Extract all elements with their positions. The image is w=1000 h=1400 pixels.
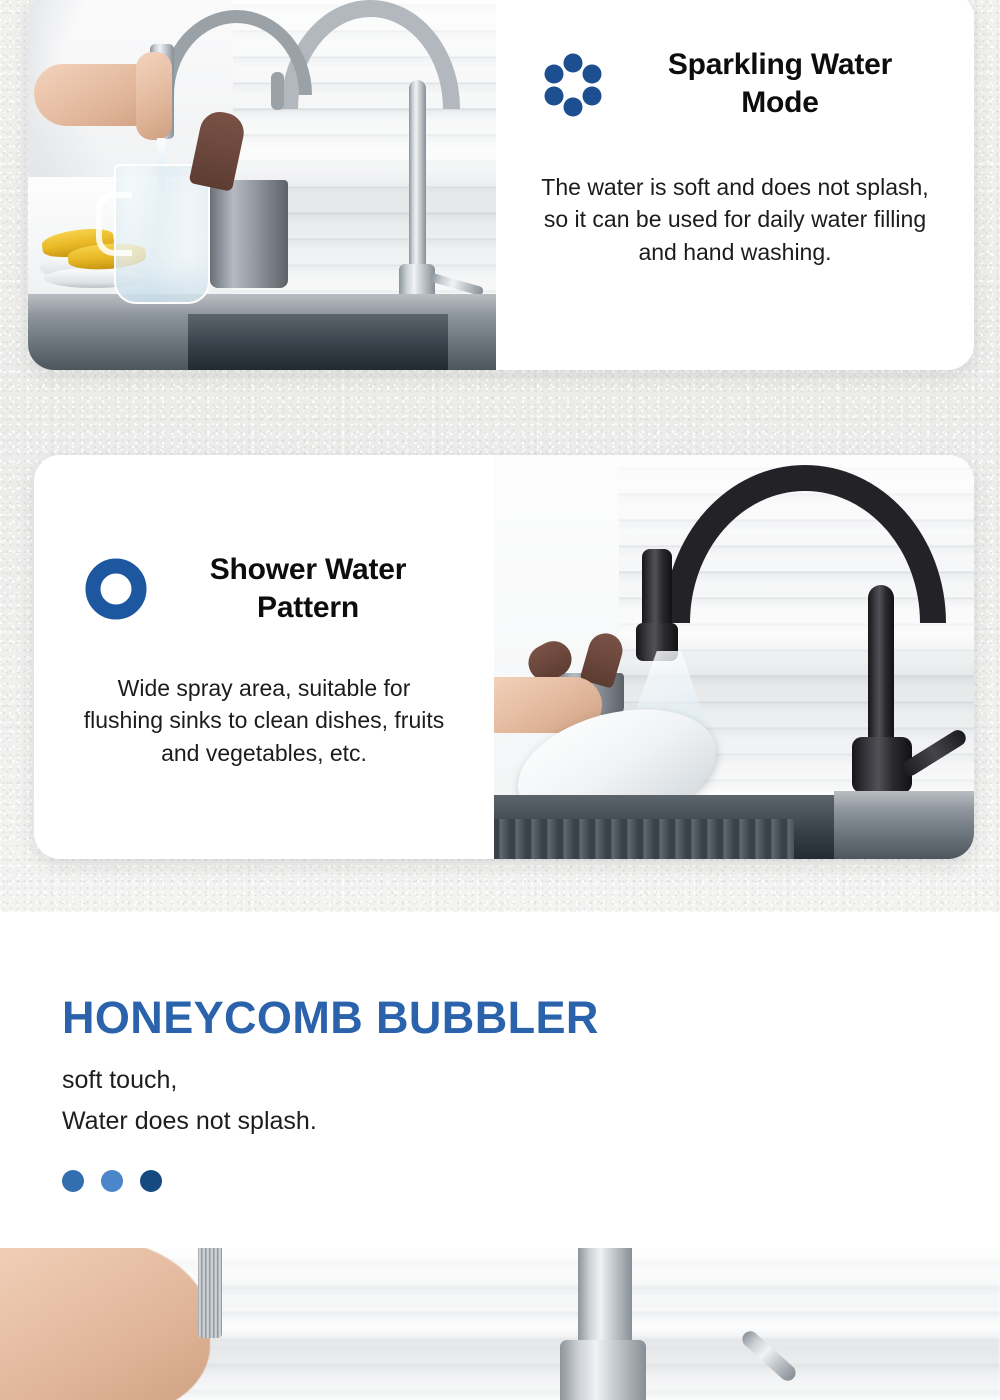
section-subtitle: soft touch,Water does not splash. (62, 1060, 317, 1141)
feature-description: The water is soft and does not splash, s… (535, 171, 935, 269)
feature-heading-row: Shower Water Pattern (56, 551, 472, 628)
section-subtitle-line-2: Water does not splash. (62, 1107, 317, 1135)
feature-text-sparkling-water: Sparkling Water Mode The water is soft a… (496, 0, 974, 370)
feature-title: Sparkling Water Mode (630, 46, 930, 123)
swatch-dark-navy[interactable] (140, 1170, 162, 1192)
feature-heading-row: Sparkling Water Mode (518, 46, 952, 123)
section-subtitle-line-1: soft touch, (62, 1066, 177, 1094)
feature-card-sparkling-water-mode: Sparkling Water Mode The water is soft a… (28, 0, 974, 370)
feature-text-shower-water: Shower Water Pattern Wide spray area, su… (34, 455, 494, 859)
feature-description: Wide spray area, suitable for flushing s… (79, 672, 449, 770)
honeycomb-bubbler-section: HONEYCOMB BUBBLER soft touch,Water does … (0, 912, 1000, 1248)
color-swatch-row (62, 1170, 162, 1192)
feature-title: Shower Water Pattern (173, 551, 443, 628)
section-heading: HONEYCOMB BUBBLER (62, 992, 599, 1044)
feature-photo-sparkling-water (28, 0, 496, 370)
swatch-medium-blue[interactable] (62, 1170, 84, 1192)
feature-photo-shower-water (494, 455, 974, 859)
feature-card-shower-water-pattern: Shower Water Pattern Wide spray area, su… (34, 455, 974, 859)
ring-circle-icon (85, 558, 147, 620)
swatch-light-blue[interactable] (101, 1170, 123, 1192)
six-dots-circle-icon (540, 52, 606, 118)
bottom-product-photo (0, 1248, 1000, 1400)
